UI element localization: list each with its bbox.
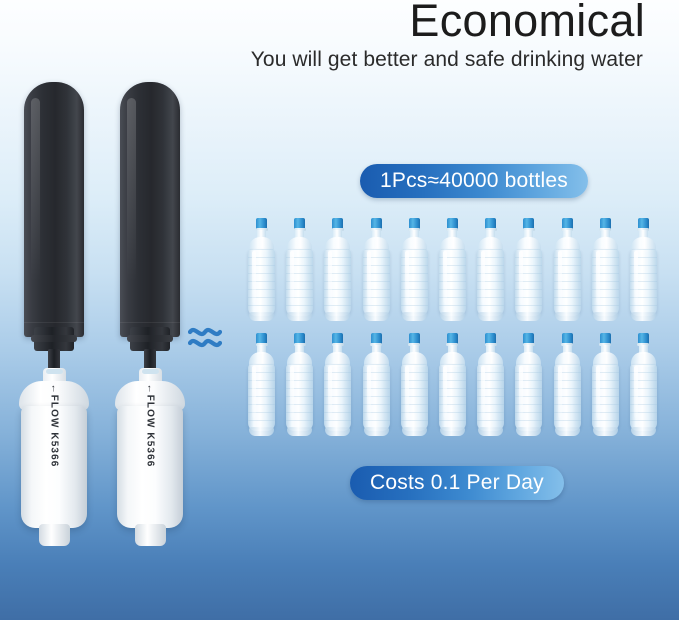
- carbon-filter-left: [24, 82, 84, 337]
- bottle-bottom: [249, 427, 274, 436]
- bottle-bottom: [631, 312, 656, 321]
- water-bottle: [512, 218, 545, 321]
- bottle-highlight: [252, 251, 256, 303]
- water-bottle: [512, 333, 545, 436]
- badge-bottle-equivalence: 1Pcs≈40000 bottles: [360, 164, 588, 198]
- bottle-bottom: [402, 427, 427, 436]
- bottle-highlight: [558, 251, 562, 303]
- cartridge-label-text: ←FLOW K5366: [145, 373, 156, 479]
- bottle-highlight: [405, 366, 409, 418]
- bottle-bottom: [249, 312, 274, 321]
- bottle-highlight: [596, 251, 600, 303]
- bottle-bottom: [402, 312, 427, 321]
- water-bottle: [589, 333, 622, 436]
- bottle-highlight: [558, 366, 562, 418]
- water-bottle: [474, 218, 507, 321]
- water-bottle: [360, 218, 393, 321]
- water-bottle: [360, 333, 393, 436]
- water-bottle: [321, 218, 354, 321]
- water-bottle: [245, 333, 278, 436]
- bottle-bottom: [440, 312, 465, 321]
- water-bottle: [627, 333, 660, 436]
- water-bottle: [589, 218, 622, 321]
- water-bottle: [245, 218, 278, 321]
- bottle-bottom: [516, 427, 541, 436]
- bottle-highlight: [328, 366, 332, 418]
- cartridge-base: [39, 524, 70, 546]
- bottle-highlight: [290, 251, 294, 303]
- bottle-highlight: [634, 251, 638, 303]
- bottle-highlight: [596, 366, 600, 418]
- bottle-bottom: [555, 312, 580, 321]
- bottle-bottom: [555, 427, 580, 436]
- bottle-bottom: [478, 312, 503, 321]
- water-bottle: [474, 333, 507, 436]
- bottle-bottom: [364, 427, 389, 436]
- bottle-bottom: [631, 427, 656, 436]
- carbon-filter-highlight: [31, 98, 40, 282]
- bottle-row-bottom: [245, 333, 660, 436]
- bottle-bottom: [478, 427, 503, 436]
- infographic-canvas: Economical You will get better and safe …: [0, 0, 679, 620]
- water-bottle: [551, 333, 584, 436]
- connector-ring: [127, 335, 173, 342]
- water-bottle: [321, 333, 354, 436]
- bottle-highlight: [443, 366, 447, 418]
- bottle-highlight: [443, 251, 447, 303]
- bottle-highlight: [367, 251, 371, 303]
- bottle-bottom: [593, 312, 618, 321]
- water-bottle: [283, 218, 316, 321]
- water-bottle: [436, 218, 469, 321]
- bottle-bottom: [325, 427, 350, 436]
- page-title: Economical: [409, 0, 645, 46]
- cartridge-base: [135, 524, 166, 546]
- carbon-filter-seam: [24, 322, 84, 323]
- bottle-bottom: [287, 312, 312, 321]
- bottle-highlight: [367, 366, 371, 418]
- bottle-bottom: [287, 427, 312, 436]
- water-bottle: [627, 218, 660, 321]
- bottle-bottom: [364, 312, 389, 321]
- page-subtitle: You will get better and safe drinking wa…: [251, 48, 643, 72]
- connector-ring: [31, 335, 77, 342]
- water-filter-cartridge-left: ←FLOW K5366: [17, 368, 91, 550]
- carbon-filter-highlight: [127, 98, 136, 282]
- bottle-highlight: [290, 366, 294, 418]
- bottle-highlight: [405, 251, 409, 303]
- bottle-bottom: [325, 312, 350, 321]
- water-bottle: [436, 333, 469, 436]
- bottle-bottom: [440, 427, 465, 436]
- cartridge-label-text: ←FLOW K5366: [49, 373, 60, 479]
- water-bottle: [551, 218, 584, 321]
- approximately-equals-icon: [188, 322, 222, 352]
- badge-daily-cost: Costs 0.1 Per Day: [350, 466, 564, 500]
- bottle-highlight: [252, 366, 256, 418]
- bottle-bottom: [516, 312, 541, 321]
- bottle-highlight: [634, 366, 638, 418]
- water-bottle: [283, 333, 316, 436]
- bottle-highlight: [328, 251, 332, 303]
- water-bottle: [398, 218, 431, 321]
- water-filter-cartridge-right: ←FLOW K5366: [113, 368, 187, 550]
- water-bottle: [398, 333, 431, 436]
- bottle-row-top: [245, 218, 660, 321]
- carbon-filter-seam: [120, 322, 180, 323]
- carbon-filter-right: [120, 82, 180, 337]
- bottle-highlight: [519, 251, 523, 303]
- bottle-highlight: [519, 366, 523, 418]
- bottle-highlight: [481, 366, 485, 418]
- bottle-bottom: [593, 427, 618, 436]
- bottle-highlight: [481, 251, 485, 303]
